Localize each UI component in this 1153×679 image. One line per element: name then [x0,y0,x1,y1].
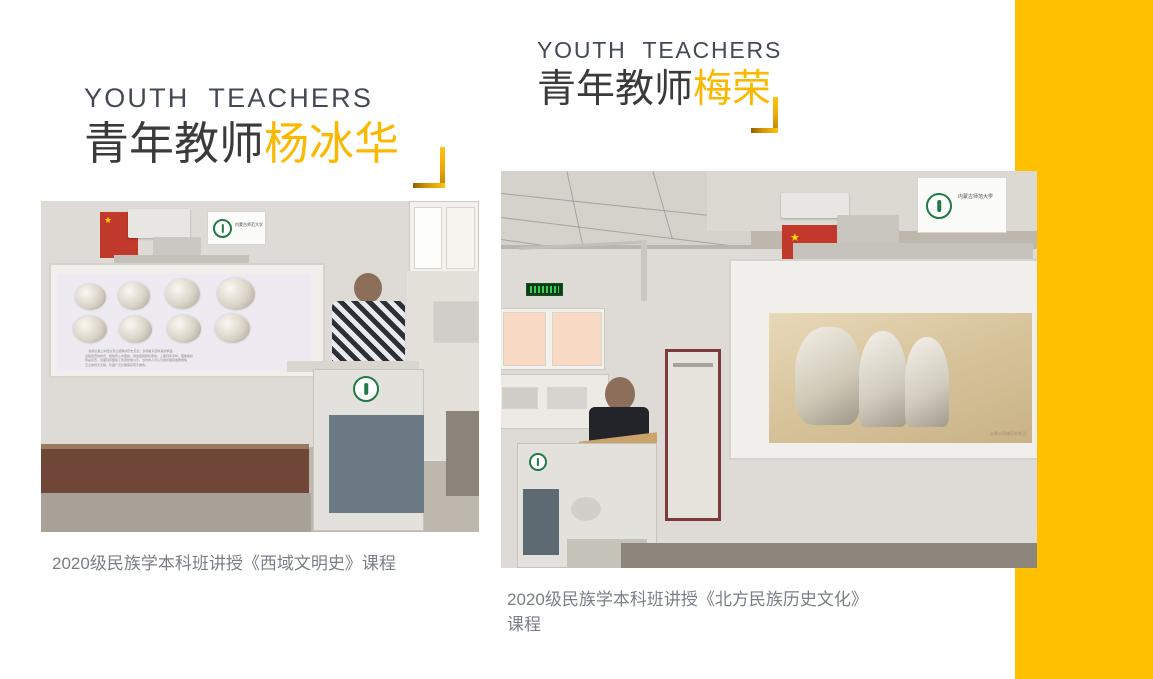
photo-left-classroom: ★ 内蒙古师范大学 丝绸之路上中西交流之频繁的历史见证，表明着东西商贸 [41,201,479,532]
teacher-name-left: 杨冰华 [264,118,399,169]
photo-left-scene: ★ 内蒙古师范大学 丝绸之路上中西交流之频繁的历史见证，表明着东西商贸 [41,201,479,532]
coin-6 [119,316,152,343]
projection-slide-left-photo: 丝绸之路上中西交流之频繁的历史见证，表明着东西商贸的繁盛。 这些钱币的样式、规格… [57,274,311,371]
school-emblem-icon-left [213,219,232,238]
teacher-head-right-photo [605,377,635,411]
flag-star-icon: ★ [104,216,112,225]
bracket-horizontal-left [413,183,445,188]
photo-right-classroom: ★ 内蒙古师范大学 从属@西域历史老日 [501,171,1037,568]
window-pane-e [502,387,538,409]
floor-right-photo [621,543,1037,568]
window-pane-f [547,387,587,409]
window-pane-a [414,207,442,269]
headline-right: 青年教师梅荣 [537,70,782,111]
coin-4 [217,278,255,310]
exit-sign-right-photo [526,283,563,296]
window-upper-right-photo [501,308,605,370]
side-desk-left-photo [446,411,479,496]
window-pane-b [446,207,475,269]
caption-right: 2020级民族学本科班讲授《北方民族历史文化》 课程 [507,588,1067,637]
slide-watermark-right: 从属@西域历史老日 [990,431,1026,437]
hook-row-right-photo [673,363,713,367]
podium-emblem-icon-right [529,453,547,471]
coin-1 [75,284,106,310]
window-pane-d [552,312,602,366]
school-logo-plate-right-photo: 内蒙古师范大学 [917,177,1007,233]
slide-canvas: YOUTH TEACHERS 青年教师杨冰华 YOUTH TEACHERS 青年… [0,0,1153,679]
school-logo-text-left: 内蒙古师范大学 [235,222,263,227]
teacher-head-left-photo [354,273,382,303]
caption-left: 2020级民族学本科班讲授《西域文明史》课程 [52,552,472,577]
projector-arm-right-photo [837,215,899,243]
role-label-left: 青年教师 [84,118,264,169]
slide-body-text-left: 丝绸之路上中西交流之频繁的历史见证，表明着东西商贸的繁盛。 这些钱币的样式、规格… [85,349,193,367]
coin-2 [118,282,150,310]
title-block-left: YOUTH TEACHERS 青年教师杨冰华 [84,84,399,168]
bracket-horizontal-right [751,128,778,133]
podium-speaker-right-photo [571,497,601,521]
school-emblem-icon-right [926,193,952,219]
projector-arm-left-photo [153,237,201,257]
teacher-body-left-photo [332,301,405,367]
headline-left: 青年教师杨冰华 [84,120,399,167]
school-logo-text-right: 内蒙古师范大学 [958,194,993,200]
coin-7 [167,315,201,343]
podium-screen-right-photo [523,489,559,555]
projection-slide-right-photo: 从属@西域历史老日 [769,313,1032,443]
statue-figure-1 [859,331,907,427]
floor-left-photo [41,493,311,532]
eyebrow-right: YOUTH TEACHERS [537,38,782,62]
eyebrow-left: YOUTH TEACHERS [84,84,399,112]
stage-front-left-photo [41,449,309,498]
role-label-right: 青年教师 [537,68,693,111]
statue-figure-2 [905,337,949,427]
bracket-vertical-left [440,147,445,188]
projector-left-photo [128,209,190,238]
title-block-right: YOUTH TEACHERS 青年教师梅荣 [537,38,782,111]
conduit-pipe-2 [641,241,647,301]
window-pane-c [503,312,546,366]
caption-right-line-1: 2020级民族学本科班讲授《北方民族历史文化》 [507,588,1067,613]
podium-emblem-icon-left [353,376,379,402]
hook-board-right-photo [665,349,721,521]
statue-horse [795,327,860,425]
door-window-left-photo [433,301,479,343]
photo-right-scene: ★ 内蒙古师范大学 从属@西域历史老日 [501,171,1037,568]
coin-3 [165,279,200,309]
caption-left-line-1: 2020级民族学本科班讲授《西域文明史》课程 [52,552,472,577]
window-left-photo [409,201,479,275]
podium-screen-left-photo [329,415,424,513]
corner-bracket-left [413,147,445,188]
projector-rail-right-photo [793,243,1033,259]
coin-8 [215,314,250,343]
caption-right-line-2: 课程 [507,613,1067,638]
school-logo-plate-left-photo: 内蒙古师范大学 [207,211,266,245]
corner-bracket-right [751,97,778,133]
coin-5 [73,316,107,343]
